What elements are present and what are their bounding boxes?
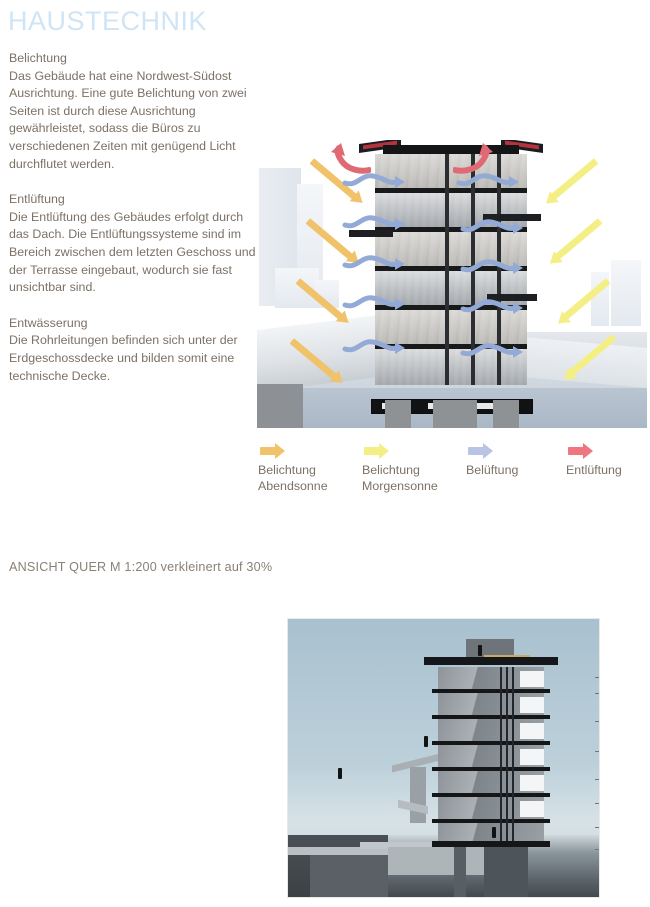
building-section	[375, 154, 527, 402]
legend-item-label: Belichtung Morgensonne	[362, 462, 438, 494]
dimension-annotations: +24.00 OKF +22.2 600 – 9.6 600 – 6.9 600…	[537, 677, 595, 859]
support-pillar	[433, 400, 477, 428]
scale-figure	[424, 736, 428, 747]
text-block-heading: Entlüftung	[9, 191, 257, 209]
text-block-body: Die Entlüftung des Gebäudes erfolgt durc…	[9, 209, 257, 297]
scale-figure	[478, 645, 482, 656]
cross-section-rendering: +24.00 OKF +22.2 600 – 9.6 600 – 6.9 600…	[287, 618, 600, 898]
text-block-entlueftung: Entlüftung Die Entlüftung des Gebäudes e…	[9, 191, 257, 297]
facade-mullion	[512, 667, 514, 841]
exhaust-arrow-right	[453, 142, 499, 176]
context-building-right	[611, 260, 641, 326]
legend-item-label: Belichtung Abendsonne	[258, 462, 328, 494]
ventilation-arrow	[461, 296, 525, 314]
legend-item-label: Entlüftung	[566, 462, 622, 478]
support-pillar	[454, 839, 466, 897]
facade-mullion	[500, 667, 502, 841]
section-caption: ANSICHT QUER M 1:200 verkleinert auf 30%	[9, 560, 272, 574]
exhaust-arrow-left	[325, 142, 371, 176]
arrow-right-icon	[568, 447, 584, 455]
scale-figure	[338, 768, 342, 779]
support-pillar	[484, 839, 528, 897]
text-column: Belichtung Das Gebäude hat eine Nordwest…	[9, 50, 257, 403]
building-section-climate-diagram	[257, 140, 647, 428]
scale-figure	[492, 827, 496, 838]
balcony-left	[349, 230, 393, 237]
ground-slab	[432, 841, 550, 847]
text-block-body: Das Gebäude hat eine Nordwest-Südost Aus…	[9, 68, 257, 174]
page-title: HAUSTECHNIK	[8, 6, 207, 37]
support-pillar	[385, 400, 411, 428]
ventilation-arrow	[343, 336, 407, 354]
facade-mullion	[506, 667, 508, 841]
arrow-right-icon	[260, 447, 276, 455]
arrow-right-icon	[364, 447, 380, 455]
ventilation-arrow	[343, 292, 407, 310]
quay-left-shadow	[257, 384, 303, 428]
text-block-heading: Entwässerung	[9, 315, 257, 333]
storey	[438, 823, 544, 843]
text-block-body: Die Rohrleitungen befinden sich unter de…	[9, 332, 257, 385]
tower-section	[438, 667, 544, 845]
text-block-heading: Belichtung	[9, 50, 257, 68]
text-block-entwaesserung: Entwässerung Die Rohrleitungen befinden …	[9, 315, 257, 385]
ventilation-arrow	[461, 216, 525, 234]
roof-plate	[424, 657, 558, 665]
ventilation-arrow	[343, 212, 407, 230]
legend-item-label: Belüftung	[466, 462, 518, 478]
ventilation-arrow	[343, 252, 407, 270]
core-column	[445, 154, 449, 385]
arrow-right-icon	[468, 447, 484, 455]
quay-mass-secondary	[310, 855, 388, 897]
text-block-belichtung: Belichtung Das Gebäude hat eine Nordwest…	[9, 50, 257, 173]
ventilation-arrow	[461, 340, 525, 358]
support-pillar	[493, 400, 519, 428]
ventilation-arrow	[461, 256, 525, 274]
